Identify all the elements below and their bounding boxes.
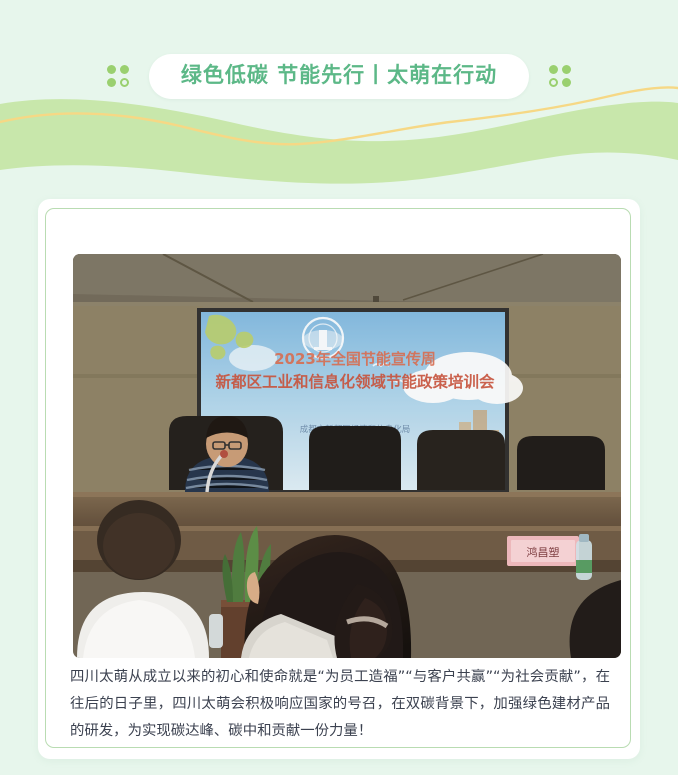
title-pill: 绿色低碳 节能先行丨太萌在行动 [149,54,529,99]
meeting-photo: 2023年全国节能宣传周 新都区工业和信息化领域节能政策培训会 成都市新都区经济… [73,254,621,658]
header-banner: 绿色低碳 节能先行丨太萌在行动 [0,0,678,190]
dots-decoration-left-icon [107,65,129,87]
dot [562,65,571,74]
dots-decoration-right-icon [549,65,571,87]
header-title-row: 绿色低碳 节能先行丨太萌在行动 [0,52,678,100]
dot-hollow [120,78,129,87]
content-card: 2023年全国节能宣传周 新都区工业和信息化领域节能政策培训会 成都市新都区经济… [38,199,640,759]
dot [562,78,571,87]
meeting-photo-image: 2023年全国节能宣传周 新都区工业和信息化领域节能政策培训会 成都市新都区经济… [73,254,621,658]
photo-caption: 四川太萌从成立以来的初心和使命就是“为员工造福”“与客户共赢”“为社会贡献”，在… [70,664,610,745]
dot [107,78,116,87]
dot [120,65,129,74]
content-card-border: 2023年全国节能宣传周 新都区工业和信息化领域节能政策培训会 成都市新都区经济… [45,208,631,748]
dot [549,65,558,74]
dot-hollow [549,78,558,87]
dot [107,65,116,74]
page-title: 绿色低碳 节能先行丨太萌在行动 [181,65,497,86]
